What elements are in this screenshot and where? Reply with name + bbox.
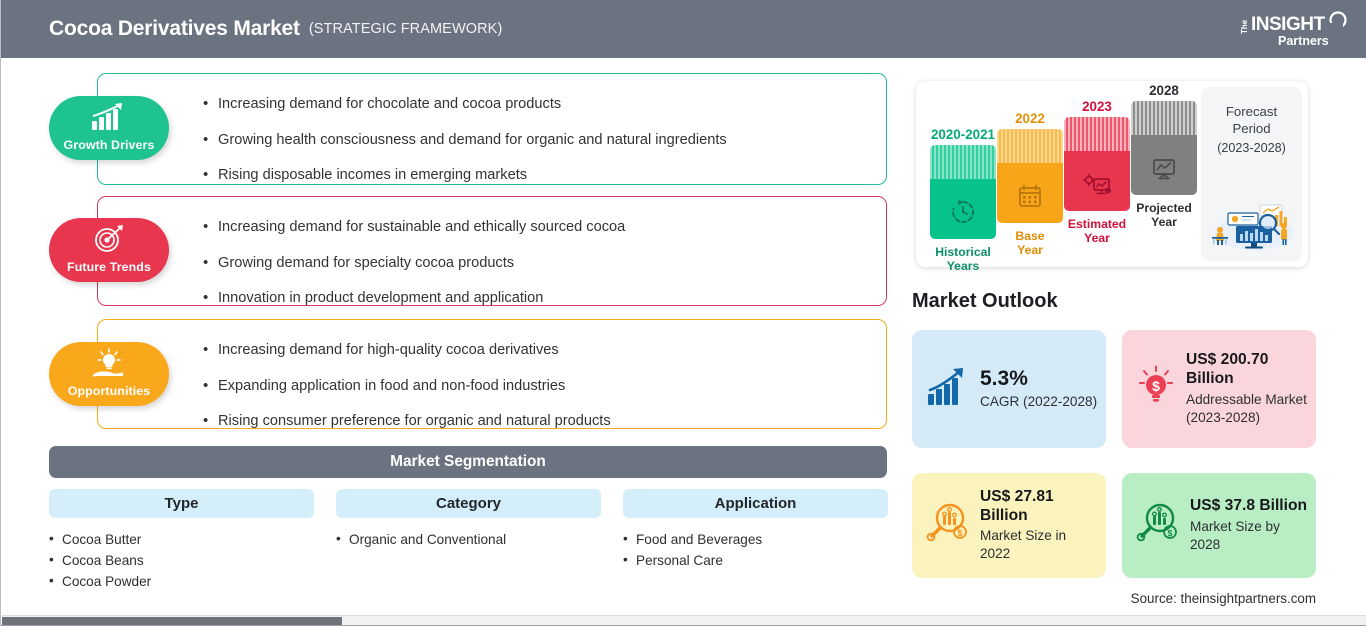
data-analysis-illustration xyxy=(1206,193,1298,256)
bar-caption: BaseYear xyxy=(997,229,1063,258)
segmentation-header-pill: Category xyxy=(336,489,601,518)
outlook-card-addressable-market: $ US$ 200.70 Billion Addressable Market … xyxy=(1122,330,1316,448)
source-attribution: Source: theinsightpartners.com xyxy=(1131,591,1316,606)
bar-year-label: 2020-2021 xyxy=(930,127,996,142)
column-header-label: Category xyxy=(436,495,501,512)
list-item: Growing demand for specialty cocoa produ… xyxy=(203,256,625,271)
forecast-period-years: (2023-2028) xyxy=(1201,141,1302,155)
gear-chart-icon xyxy=(1083,173,1111,202)
list-item: Food and Beverages xyxy=(623,532,888,547)
svg-text:$: $ xyxy=(1168,528,1173,538)
outlook-card-value: US$ 27.81 Billion xyxy=(980,488,1098,525)
timeline-bar-historical: 2020-2021 HistoricalYears xyxy=(930,127,996,274)
list-item: Cocoa Powder xyxy=(49,574,314,589)
opportunities-list: Increasing demand for high-quality cocoa… xyxy=(203,343,611,450)
segmentation-items: Organic and Conventional xyxy=(336,532,601,547)
magnifier-bar-dollar-icon: $ xyxy=(926,501,970,550)
badge-growth-drivers[interactable]: Growth Drivers xyxy=(49,96,169,160)
growth-drivers-list: Increasing demand for chocolate and coco… xyxy=(203,97,727,204)
segmentation-column-application: Application Food and Beverages Personal … xyxy=(623,489,888,574)
bar-chart-growth-icon xyxy=(89,102,129,137)
timeline-bar-projected: 2028 ProjectedYear xyxy=(1131,83,1197,230)
infographic-page: Cocoa Derivatives Market (STRATEGIC FRAM… xyxy=(0,0,1366,626)
column-header-label: Application xyxy=(715,495,797,512)
horizontal-scrollbar[interactable] xyxy=(2,615,1366,625)
svg-text:$: $ xyxy=(1152,378,1160,394)
outlook-card-text: US$ 37.8 Billion Market Size by 2028 xyxy=(1190,497,1308,554)
timeline-bar-estimated: 2023 xyxy=(1064,99,1130,246)
outlook-card-value: 5.3% xyxy=(980,367,1028,390)
forecast-period-title: ForecastPeriod xyxy=(1201,103,1302,137)
timeline-bar-base: 2022 xyxy=(997,111,1063,258)
outlook-card-caption: Market Size by 2028 xyxy=(1190,518,1308,554)
logo-partners-text: Partners xyxy=(1278,34,1329,48)
page-subtitle: (STRATEGIC FRAMEWORK) xyxy=(309,21,503,37)
svg-text:$: $ xyxy=(958,528,963,538)
list-item: Expanding application in food and non-fo… xyxy=(203,379,611,394)
page-title: Cocoa Derivatives Market xyxy=(49,17,300,41)
segmentation-column-category: Category Organic and Conventional xyxy=(336,489,601,553)
bar-year-label: 2028 xyxy=(1131,83,1197,98)
segmentation-items: Cocoa Butter Cocoa Beans Cocoa Powder xyxy=(49,532,314,589)
bar-caption: EstimatedYear xyxy=(1064,217,1130,246)
bar-year-label: 2023 xyxy=(1064,99,1130,114)
outlook-card-text: US$ 27.81 Billion Market Size in 2022 xyxy=(980,488,1098,563)
bar-year-label: 2022 xyxy=(997,111,1063,126)
panel-opportunities: Increasing demand for high-quality cocoa… xyxy=(97,319,887,429)
bar-shape xyxy=(1064,117,1130,211)
badge-opportunities[interactable]: Opportunities xyxy=(49,342,169,406)
bar-shape xyxy=(930,145,996,239)
segmentation-header-pill: Type xyxy=(49,489,314,518)
forecast-timeline-card: 2020-2021 HistoricalYears 2022 xyxy=(916,81,1308,267)
lightbulb-hand-icon xyxy=(90,348,128,385)
lightbulb-dollar-icon: $ xyxy=(1136,365,1176,414)
market-segmentation-header: Market Segmentation xyxy=(49,446,887,478)
badge-label: Future Trends xyxy=(67,260,151,274)
presentation-chart-icon xyxy=(1150,157,1178,186)
bar-caption: ProjectedYear xyxy=(1131,201,1197,230)
list-item: Organic and Conventional xyxy=(336,532,601,547)
outlook-card-market-size-2028: $ US$ 37.8 Billion Market Size by 2028 xyxy=(1122,473,1316,578)
outlook-card-cagr: 5.3% CAGR (2022-2028) xyxy=(912,330,1106,448)
segmentation-column-type: Type Cocoa Butter Cocoa Beans Cocoa Powd… xyxy=(49,489,314,595)
insight-partners-logo: The INSIGHT Partners xyxy=(1234,8,1350,50)
list-item: Cocoa Beans xyxy=(49,553,314,568)
magnifier-bar-dollar-icon: $ xyxy=(1136,501,1180,550)
list-item: Increasing demand for high-quality cocoa… xyxy=(203,343,611,358)
target-dart-icon xyxy=(92,224,126,259)
column-header-label: Type xyxy=(165,495,199,512)
scrollbar-thumb[interactable] xyxy=(2,617,342,625)
badge-label: Opportunities xyxy=(68,384,151,398)
bar-shape xyxy=(1131,101,1197,195)
future-trends-list: Increasing demand for sustainable and et… xyxy=(203,220,625,327)
outlook-card-caption: CAGR (2022-2028) xyxy=(980,393,1097,411)
logo-insight-text: INSIGHT xyxy=(1251,14,1325,35)
logo-the-text: The xyxy=(1240,19,1249,34)
list-item: Personal Care xyxy=(623,553,888,568)
bar-caption: HistoricalYears xyxy=(930,245,996,274)
page-header: Cocoa Derivatives Market (STRATEGIC FRAM… xyxy=(1,0,1366,58)
badge-label: Growth Drivers xyxy=(64,138,155,152)
list-item: Innovation in product development and ap… xyxy=(203,291,625,306)
panel-growth-drivers: Increasing demand for chocolate and coco… xyxy=(97,73,887,185)
list-item: Increasing demand for sustainable and et… xyxy=(203,220,625,235)
list-item: Rising disposable incomes in emerging ma… xyxy=(203,168,727,183)
list-item: Growing health consciousness and demand … xyxy=(203,133,727,148)
outlook-card-value: US$ 200.70 Billion xyxy=(1186,351,1308,388)
outlook-card-caption: Addressable Market (2023-2028) xyxy=(1186,391,1308,427)
outlook-card-market-size-2022: $ US$ 27.81 Billion Market Size in 2022 xyxy=(912,473,1106,578)
segmentation-header-pill: Application xyxy=(623,489,888,518)
badge-future-trends[interactable]: Future Trends xyxy=(49,218,169,282)
outlook-card-text: 5.3% CAGR (2022-2028) xyxy=(980,367,1097,410)
list-item: Increasing demand for chocolate and coco… xyxy=(203,97,727,112)
outlook-card-value: US$ 37.8 Billion xyxy=(1190,497,1308,516)
list-item: Cocoa Butter xyxy=(49,532,314,547)
market-outlook-title: Market Outlook xyxy=(912,290,1058,313)
forecast-period-panel: ForecastPeriod (2023-2028) xyxy=(1201,87,1302,261)
market-segmentation-title: Market Segmentation xyxy=(390,453,546,471)
list-item: Rising consumer preference for organic a… xyxy=(203,414,611,429)
bar-chart-arrow-icon xyxy=(926,366,970,413)
segmentation-items: Food and Beverages Personal Care xyxy=(623,532,888,568)
outlook-card-text: US$ 200.70 Billion Addressable Market (2… xyxy=(1186,351,1308,426)
outlook-card-caption: Market Size in 2022 xyxy=(980,527,1098,563)
clock-rewind-icon xyxy=(950,199,976,230)
calendar-icon xyxy=(1017,183,1043,214)
panel-future-trends: Increasing demand for sustainable and et… xyxy=(97,196,887,306)
bar-shape xyxy=(997,129,1063,223)
